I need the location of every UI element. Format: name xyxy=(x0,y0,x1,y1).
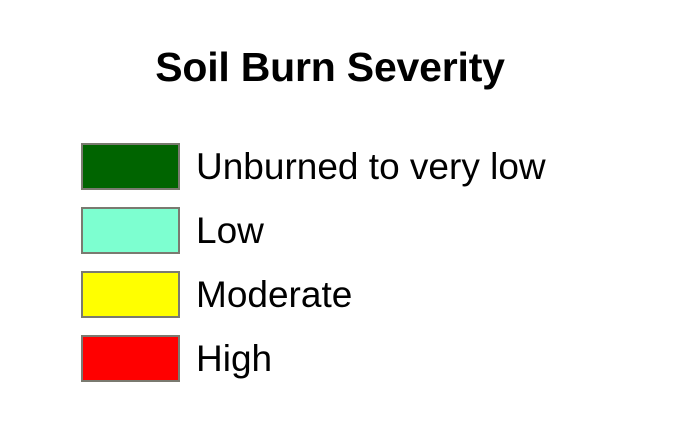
legend-item-label: Moderate xyxy=(196,273,352,316)
legend-item-low: Low xyxy=(81,207,681,254)
legend-item-moderate: Moderate xyxy=(81,271,681,318)
legend-item-list: Unburned to very low Low Moderate High xyxy=(81,143,681,382)
page-title: Soil Burn Severity xyxy=(0,42,660,92)
color-swatch-dark-green xyxy=(81,143,180,190)
legend-item-label: Low xyxy=(196,209,264,252)
legend-item-unburned-to-very-low: Unburned to very low xyxy=(81,143,681,190)
legend-item-label: Unburned to very low xyxy=(196,145,546,188)
color-swatch-aquamarine xyxy=(81,207,180,254)
legend-item-high: High xyxy=(81,335,681,382)
color-swatch-yellow xyxy=(81,271,180,318)
soil-burn-severity-legend: Soil Burn Severity Unburned to very low … xyxy=(0,0,695,442)
legend-item-label: High xyxy=(196,337,272,380)
color-swatch-red xyxy=(81,335,180,382)
